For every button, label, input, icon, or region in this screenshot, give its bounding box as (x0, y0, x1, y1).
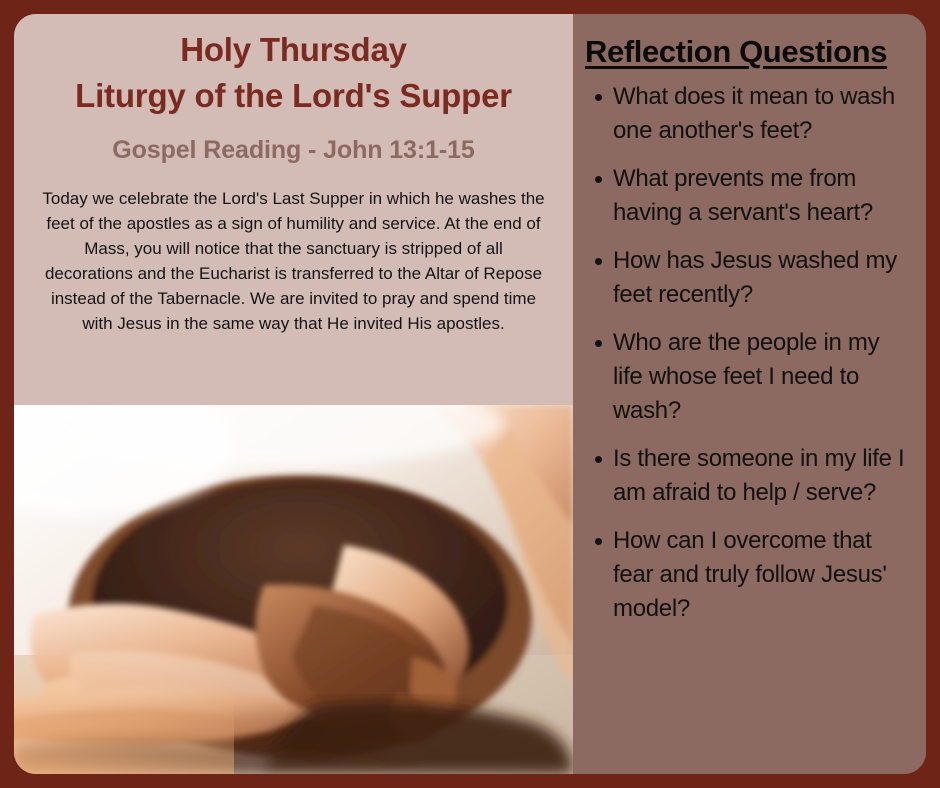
photo-illustration (14, 405, 573, 774)
list-item: How can I overcome that fear and truly f… (583, 524, 912, 626)
gospel-reading-subtitle: Gospel Reading - John 13:1-15 (32, 132, 555, 168)
reflection-questions-heading: Reflection Questions (585, 32, 912, 72)
reflection-questions-list: What does it mean to wash one another's … (583, 80, 912, 626)
reflection-body-text: Today we celebrate the Lord's Last Suppe… (32, 186, 555, 336)
list-item: What does it mean to wash one another's … (583, 80, 912, 148)
list-item: What prevents me from having a servant's… (583, 162, 912, 230)
poster-frame: Holy Thursday Liturgy of the Lord's Supp… (0, 0, 940, 788)
washing-of-the-feet-photo (14, 405, 573, 774)
right-panel: Reflection Questions What does it mean t… (573, 14, 926, 774)
list-item: How has Jesus washed my feet recently? (583, 244, 912, 312)
list-item: Is there someone in my life I am afraid … (583, 442, 912, 510)
left-text-block: Holy Thursday Liturgy of the Lord's Supp… (14, 14, 573, 336)
left-panel: Holy Thursday Liturgy of the Lord's Supp… (14, 14, 573, 774)
poster-card: Holy Thursday Liturgy of the Lord's Supp… (14, 14, 926, 774)
list-item: Who are the people in my life whose feet… (583, 326, 912, 428)
page-title-line-2: Liturgy of the Lord's Supper (32, 74, 555, 118)
page-title-line-1: Holy Thursday (32, 28, 555, 72)
